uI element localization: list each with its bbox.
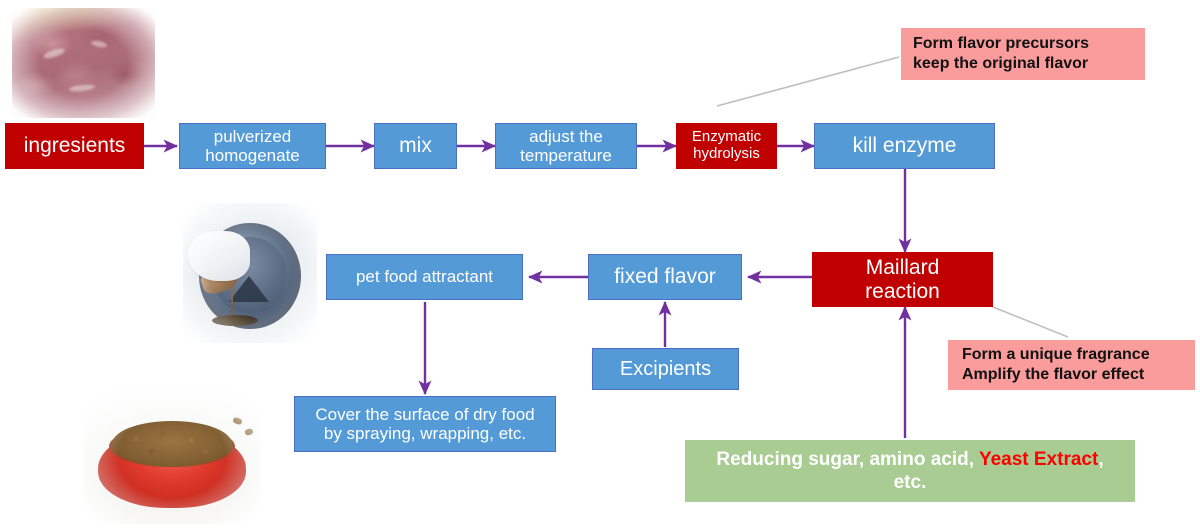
node-enzymatic-label-line2: hydrolysis [693,145,760,162]
pet-food-bowl-photo [84,388,260,524]
node-cover-label-line1: Cover the surface of dry food [315,405,534,424]
node-adjust-label-line1: adjust the [529,127,603,146]
callout-enzymatic-line1: Form flavor precursors [913,35,1089,52]
node-pet-food-attractant-label: pet food attractant [356,267,493,286]
node-kill-enzyme-label: kill enzyme [853,134,957,158]
callout-maillard-line1: Form a unique fragrance [962,346,1150,363]
node-pulverized-label-line2: homogenate [205,146,300,165]
node-mix-label: mix [399,134,432,158]
node-pulverized-homogenate[interactable]: pulverized homogenate [179,123,326,169]
callout-maillard: Form a unique fragrance Amplify the flav… [948,340,1195,390]
node-excipients[interactable]: Excipients [592,348,739,390]
node-maillard-label-line1: Maillard [866,256,940,279]
node-maillard-label-line2: reaction [865,280,940,303]
node-adjust-label-line2: temperature [520,146,612,165]
leader-line-enzymatic-callout [717,57,899,106]
node-excipients-label: Excipients [620,358,711,380]
callout-enzymatic-line2: keep the original flavor [913,55,1088,72]
callout-enzymatic: Form flavor precursors keep the original… [901,28,1145,80]
node-ingredients-label: ingresients [24,134,126,158]
node-mix[interactable]: mix [374,123,457,169]
mixer-photo [183,203,317,343]
node-ingredients[interactable]: ingresients [5,123,144,169]
reactants-highlight: Yeast Extract [979,449,1098,470]
node-adjust-temperature[interactable]: adjust the temperature [495,123,637,169]
reactants-suffix: , [1098,449,1103,470]
node-enzymatic-label-line1: Enzymatic [692,128,761,145]
node-pet-food-attractant[interactable]: pet food attractant [326,254,523,300]
node-cover-label-line2: by spraying, wrapping, etc. [324,424,526,443]
node-kill-enzyme[interactable]: kill enzyme [814,123,995,169]
node-pulverized-label-line1: pulverized [214,127,292,146]
raw-meat-photo [12,8,155,118]
node-fixed-flavor-label: fixed flavor [614,265,716,289]
node-fixed-flavor[interactable]: fixed flavor [588,254,742,300]
node-enzymatic-hydrolysis[interactable]: Enzymatic hydrolysis [676,123,777,169]
reactants-prefix: Reducing sugar, amino acid, [716,449,979,470]
node-cover-surface[interactable]: Cover the surface of dry food by sprayin… [294,396,556,452]
flowchart-canvas: ingresients pulverized homogenate mix ad… [0,0,1200,528]
callout-maillard-line2: Amplify the flavor effect [962,366,1144,383]
reactants-line2: etc. [894,472,927,493]
node-maillard-reaction[interactable]: Maillard reaction [812,252,993,307]
reactants-box: Reducing sugar, amino acid, Yeast Extrac… [685,440,1135,502]
